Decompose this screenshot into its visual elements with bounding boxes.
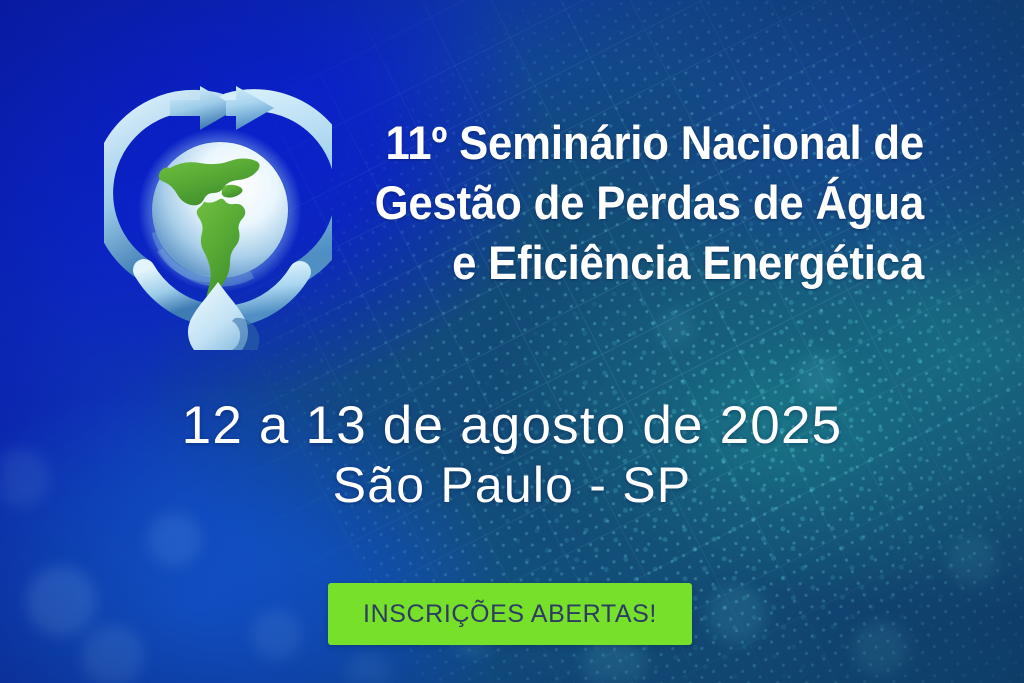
event-title: 11º Seminário Nacional de Gestão de Perd… [372, 113, 924, 293]
event-date: 12 a 13 de agosto de 2025 [0, 397, 1024, 455]
globe-water-cycle-logo-icon [104, 82, 332, 350]
event-date-location: 12 a 13 de agosto de 2025 São Paulo - SP [0, 397, 1024, 516]
event-title-line-1: 11º Seminário Nacional de [372, 113, 924, 173]
event-promo-banner: 11º Seminário Nacional de Gestão de Perd… [0, 0, 1024, 683]
event-location: São Paulo - SP [0, 455, 1024, 516]
event-title-line-3: e Eficiência Energética [372, 233, 924, 293]
registration-open-button[interactable]: INSCRIÇÕES ABERTAS! [328, 583, 692, 645]
globe-icon [152, 142, 288, 309]
event-title-line-2: Gestão de Perdas de Água [372, 173, 924, 233]
